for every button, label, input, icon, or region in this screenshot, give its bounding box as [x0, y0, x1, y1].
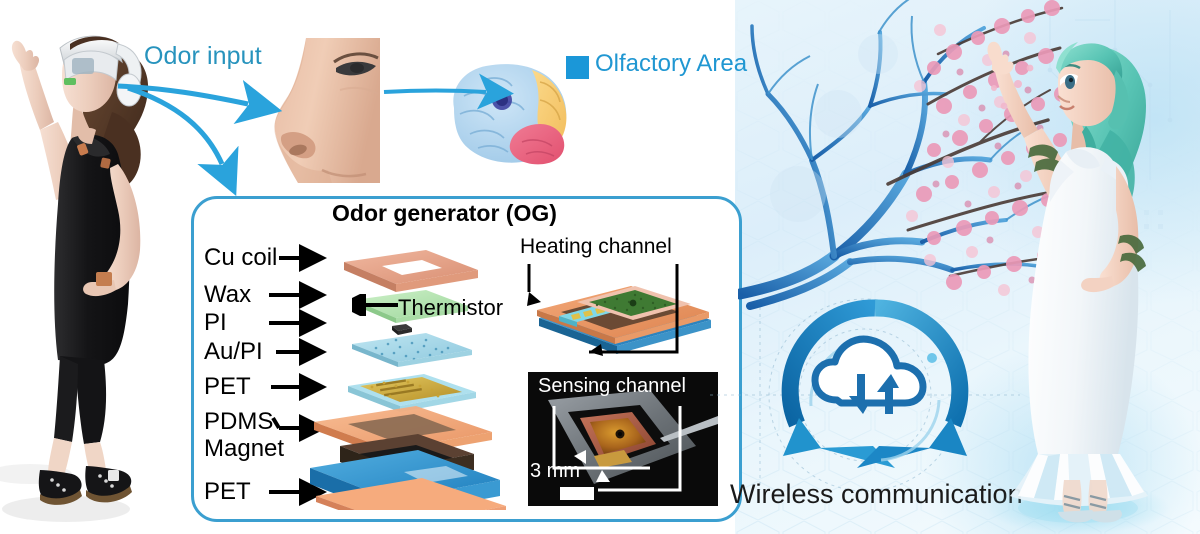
thermistor-label: Thermistor — [398, 297, 503, 319]
vr-user-figure — [0, 4, 200, 528]
sensing-channel-label: Sensing channel — [538, 376, 686, 396]
thermistor-leader — [352, 294, 404, 316]
virtual-avatar — [960, 10, 1200, 534]
layer-au-pi — [348, 374, 476, 412]
olfactory-area-label: Olfactory Area — [595, 52, 747, 76]
scale-bar-label: 3 mm — [530, 461, 580, 481]
figure-root: Odor input Olfactory Area Odor generator… — [0, 0, 1200, 534]
heating-channel-label: Heating channel — [520, 236, 672, 257]
patch-forearm — [96, 272, 112, 286]
layer-pi — [352, 333, 472, 367]
thermistor-chip — [392, 324, 412, 335]
heating-channel-render — [525, 258, 720, 368]
layer-cu-coil — [344, 250, 478, 292]
nose-photo — [262, 38, 380, 183]
olfactory-area-swatch — [566, 56, 589, 79]
exploded-layer-stack — [296, 240, 526, 510]
cloud-shape — [815, 339, 923, 403]
brain-illustration — [440, 52, 580, 172]
scale-bar — [560, 487, 594, 500]
odor-input-label: Odor input — [144, 44, 262, 69]
